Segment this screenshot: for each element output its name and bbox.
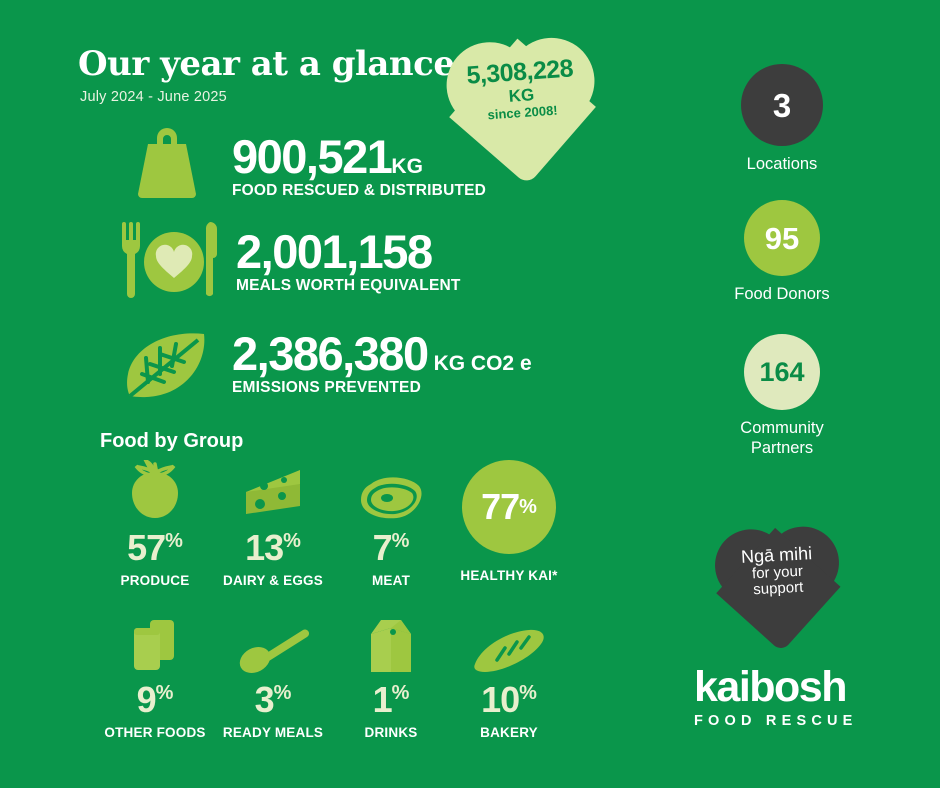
page-title: Our year at a glance: [78, 44, 454, 84]
stat-number: 900,521: [232, 133, 391, 180]
food-group-label: BAKERY: [480, 725, 538, 740]
heart-badge-since: since 2008!: [487, 104, 558, 123]
food-group-percent: 10%: [481, 682, 537, 718]
food-group-percent: 7%: [373, 530, 410, 566]
right-stat-locations: 3 Locations: [692, 64, 872, 175]
food-group-label: HEALTHY KAI*: [460, 568, 557, 583]
thanks-line-3: support: [753, 580, 804, 599]
food-group-dairy-eggs: 13% DAIRY & EGGS: [214, 460, 332, 588]
stat-meals: 2,001,158 MEALS WORTH EQUIVALENT: [236, 228, 461, 295]
food-group-produce: 57% PRODUCE: [96, 460, 214, 588]
stat-emissions: 2,386,380KG CO2 e EMISSIONS PREVENTED: [232, 330, 532, 397]
plate-fork-knife-icon: [118, 218, 224, 298]
thanks-heart-badge: Ngā mihi for your support: [713, 521, 843, 645]
locations-label: Locations: [747, 155, 818, 175]
food-group-meat: 7% MEAT: [332, 460, 450, 588]
steak-icon: [357, 460, 425, 522]
healthy-kai-badge: 77%: [462, 460, 556, 554]
stat-unit: KG: [391, 155, 423, 179]
infographic-page: Our year at a glance July 2024 - June 20…: [0, 0, 940, 788]
food-group-label: READY MEALS: [223, 725, 323, 740]
stat-number: 2,386,380: [232, 330, 428, 377]
page-subtitle: July 2024 - June 2025: [80, 89, 227, 105]
logo-wordmark: kaibosh: [694, 666, 884, 709]
logo-tagline: FOOD RESCUE: [694, 713, 884, 729]
community-partners-count: 164: [744, 334, 820, 410]
food-group-row-2: 9% OTHER FOODS 3% READY MEALS: [96, 612, 576, 740]
food-group-label: MEAT: [372, 573, 410, 588]
kaibosh-logo: kaibosh FOOD RESCUE: [694, 666, 884, 729]
spoon-icon: [237, 612, 309, 674]
food-group-row-1: 57% PRODUCE 13% DAIRY & EGGS: [96, 460, 576, 588]
food-group-ready-meals: 3% READY MEALS: [214, 612, 332, 740]
right-stat-community-partners: 164 Community Partners: [692, 334, 872, 459]
food-group-percent: 9%: [137, 682, 174, 718]
food-group-percent: 57%: [127, 530, 183, 566]
food-group-bakery: 10% BAKERY: [450, 612, 568, 740]
community-partners-label-line2: Partners: [740, 439, 823, 459]
food-group-drinks: 1% DRINKS: [332, 612, 450, 740]
milk-carton-icon: [363, 612, 419, 674]
stat-food-rescued: 900,521KG FOOD RESCUED & DISTRIBUTED: [232, 133, 486, 200]
heart-badge-number: 5,308,228: [466, 56, 574, 88]
bread-loaf-icon: [471, 612, 547, 674]
tomato-icon: [122, 460, 188, 522]
food-by-group-heading: Food by Group: [100, 430, 243, 453]
cheese-icon: [238, 460, 308, 522]
stat-label: FOOD RESCUED & DISTRIBUTED: [232, 182, 486, 200]
locations-count: 3: [741, 64, 823, 146]
community-partners-label: Community Partners: [740, 419, 823, 459]
stat-label: EMISSIONS PREVENTED: [232, 379, 532, 397]
stat-unit: KG CO2 e: [434, 352, 532, 376]
stat-label: MEALS WORTH EQUIVALENT: [236, 277, 461, 295]
stat-number: 2,001,158: [236, 228, 432, 275]
leaf-icon: [118, 330, 210, 402]
food-group-healthy-kai: 77% HEALTHY KAI*: [450, 460, 568, 588]
right-stat-food-donors: 95 Food Donors: [692, 200, 872, 305]
food-group-label: OTHER FOODS: [104, 725, 205, 740]
food-donors-count: 95: [744, 200, 820, 276]
food-donors-label: Food Donors: [734, 285, 829, 305]
shopping-bag-icon: [128, 128, 206, 200]
cans-icon: [124, 612, 186, 674]
community-partners-label-line1: Community: [740, 419, 823, 439]
food-group-label: DRINKS: [365, 725, 418, 740]
food-group-label: PRODUCE: [121, 573, 190, 588]
food-group-percent: 3%: [255, 682, 292, 718]
food-group-percent: 1%: [373, 682, 410, 718]
food-group-other-foods: 9% OTHER FOODS: [96, 612, 214, 740]
food-by-group-grid: 57% PRODUCE 13% DAIRY & EGGS: [96, 460, 576, 740]
food-group-percent: 13%: [245, 530, 301, 566]
food-group-label: DAIRY & EGGS: [223, 573, 323, 588]
